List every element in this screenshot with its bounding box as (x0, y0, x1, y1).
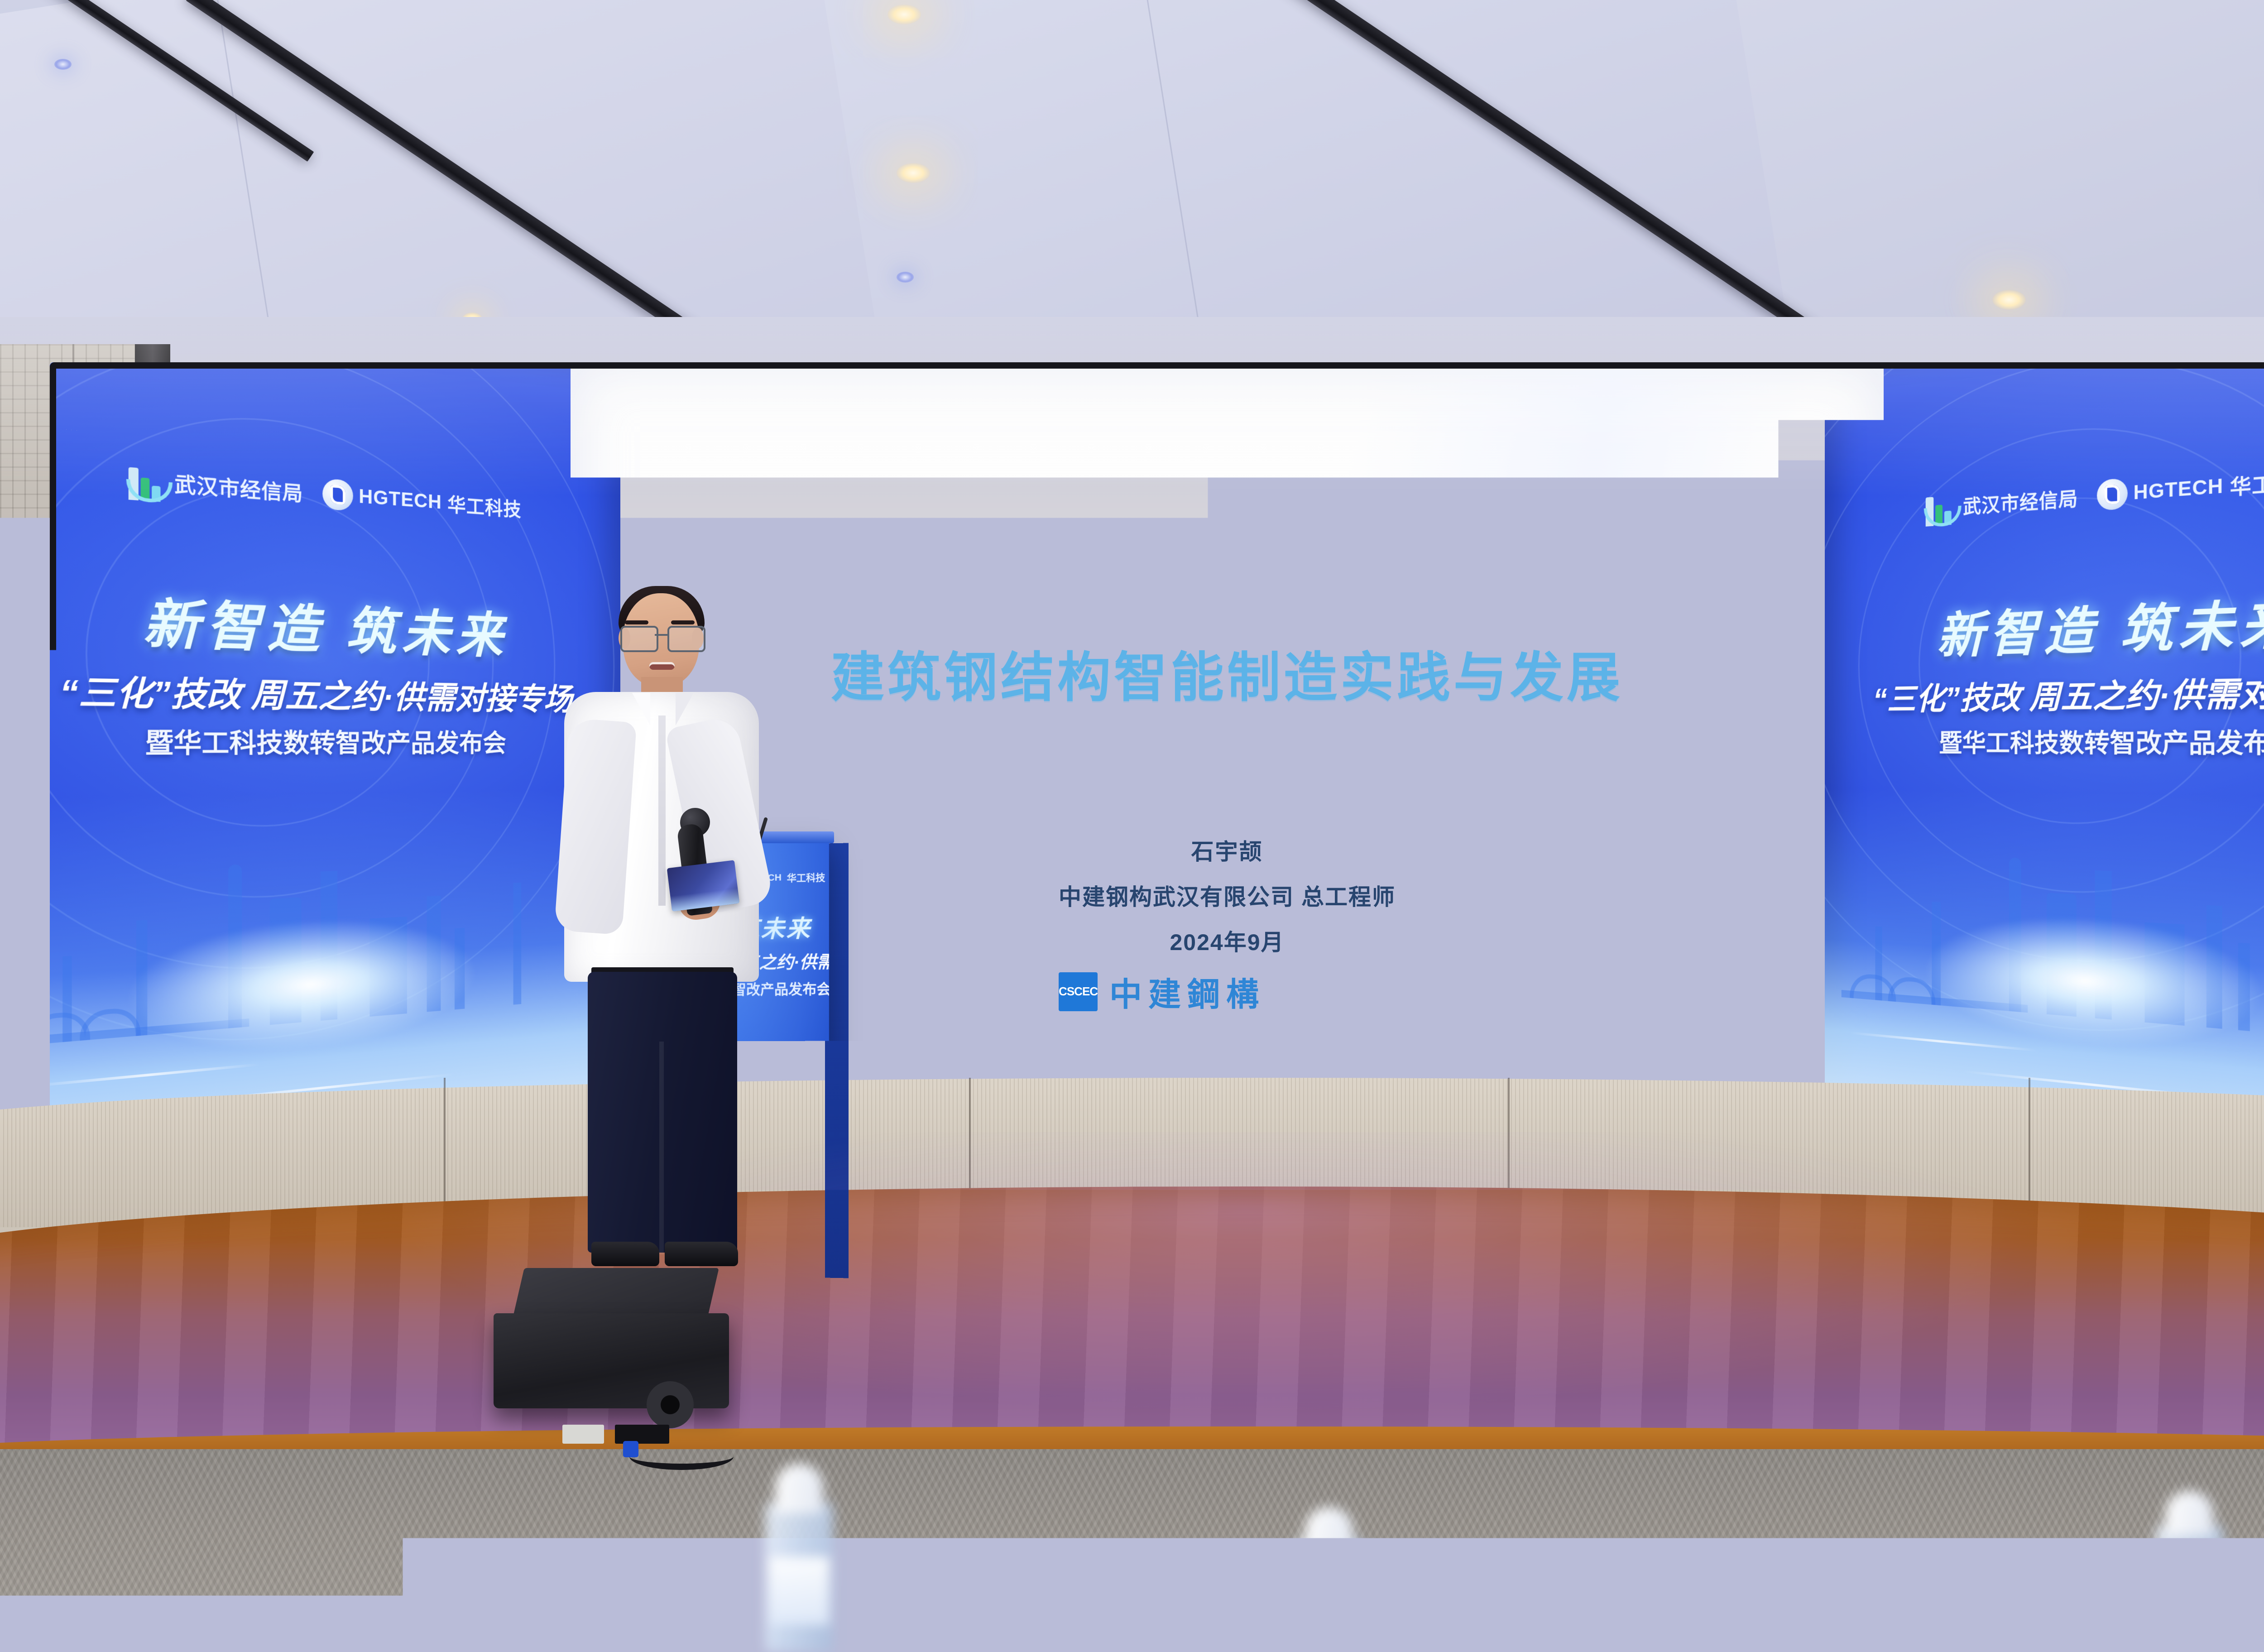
wuhan-building-icon (1923, 488, 1957, 527)
slide-title: 建筑钢结构智能制造实践与发展 (831, 634, 1623, 711)
shirt-collar (676, 693, 694, 725)
mic-flag-branding (667, 860, 740, 912)
wing-subline-right: “三化”技改 周五之约·供需对接专场 (1873, 664, 2264, 719)
ceiling-downlight (887, 5, 921, 24)
water-bottle-center (1295, 1539, 1363, 1652)
hgtech-icon (2097, 478, 2128, 511)
ceiling-blue-fixture (897, 272, 914, 283)
water-bottle-right (2155, 1525, 2223, 1652)
hgtech-icon (322, 478, 353, 511)
logo-wuhan-label: 武汉市经信局 (1963, 483, 2078, 519)
ceiling-blue-fixture (54, 59, 72, 70)
stage-monitor-left (489, 1268, 743, 1413)
led-wall-left-panel: 武汉市经信局 HGTECH 华工科技 新智造 筑未来 “三化”技改 周五之约·供… (50, 362, 620, 1123)
slide-date: 2024年9月 (1059, 924, 1396, 957)
presenter-eyebrow (625, 620, 648, 624)
presenter (548, 584, 801, 1291)
shirt-collar (632, 693, 650, 725)
wing-subline2-right: 暨华工科技数转智改产品发布会 (1939, 721, 2264, 761)
cscec-logo: CSCEC 中建鋼構 (1059, 968, 1396, 1015)
presenter-shoe (591, 1242, 659, 1266)
sponsor-logos-left: 武汉市经信局 HGTECH 华工科技 (126, 459, 521, 527)
slide-meta-block: 石宇颉 中建钢构武汉有限公司 总工程师 2024年9月 CSCEC 中建鋼構 (1059, 834, 1396, 1015)
cscec-logo-name: 中建鋼構 (1109, 968, 1265, 1015)
wuhan-building-icon (126, 459, 167, 503)
speaker-cable (629, 1443, 734, 1470)
conference-stage-scene: 武汉市经信局 HGTECH 华工科技 新智造 筑未来 “三化”技改 周五之约·供… (0, 0, 2264, 1652)
wing-subline-left: “三化”技改 周五之约·供需对接专场 (60, 664, 572, 719)
wing-headline-left: 新智造 筑未来 (143, 579, 508, 667)
shirt-placket (658, 716, 666, 906)
ceiling-downlight (1992, 290, 2026, 310)
sponsor-logos-right: 武汉市经信局 HGTECH 华工科技 (1923, 459, 2264, 527)
slide-speaker-name: 石宇颉 (1059, 834, 1396, 866)
slide-speaker-affiliation: 中建钢构武汉有限公司 总工程师 (1059, 879, 1396, 912)
logo-hgtech: HGTECH 华工科技 (2097, 463, 2264, 511)
led-wall-right-panel: 武汉市经信局 HGTECH 华工科技 新智造 筑未来 “三化”技改 周五之约·供… (1825, 362, 2264, 1123)
led-video-wall: 武汉市经信局 HGTECH 华工科技 新智造 筑未来 “三化”技改 周五之约·供… (50, 362, 2264, 1123)
logo-hgtech-en-label: HGTECH (2134, 475, 2224, 504)
logo-hgtech: HGTECH 华工科技 (322, 478, 522, 523)
eyeglasses (619, 626, 704, 649)
water-bottle-left (765, 1503, 833, 1652)
logo-wuhan-jingxinju: 武汉市经信局 (126, 459, 303, 512)
presenter-shoe (665, 1242, 738, 1266)
speaker-port-icon (647, 1381, 694, 1428)
wing-subline2-left: 暨华工科技数转智改产品发布会 (145, 721, 506, 761)
cscec-badge-icon: CSCEC (1059, 972, 1098, 1011)
speaker-jack-panel (615, 1425, 669, 1444)
presenter-mouth (649, 662, 675, 670)
wing-headline-right: 新智造 筑未来 (1937, 579, 2264, 667)
logo-hgtech-cn-label: 华工科技 (2230, 464, 2264, 500)
blue-table-card (887, 1602, 1232, 1652)
logo-hgtech-en-label: HGTECH (359, 485, 442, 514)
logo-wuhan-label: 武汉市经信局 (174, 468, 303, 507)
ceiling-downlight (897, 163, 930, 183)
logo-wuhan-jingxinju: 武汉市经信局 (1923, 478, 2078, 527)
presenter-eyebrow (671, 620, 695, 624)
logo-hgtech-cn-label: 华工科技 (447, 489, 521, 522)
speaker-spec-plate (562, 1425, 604, 1444)
